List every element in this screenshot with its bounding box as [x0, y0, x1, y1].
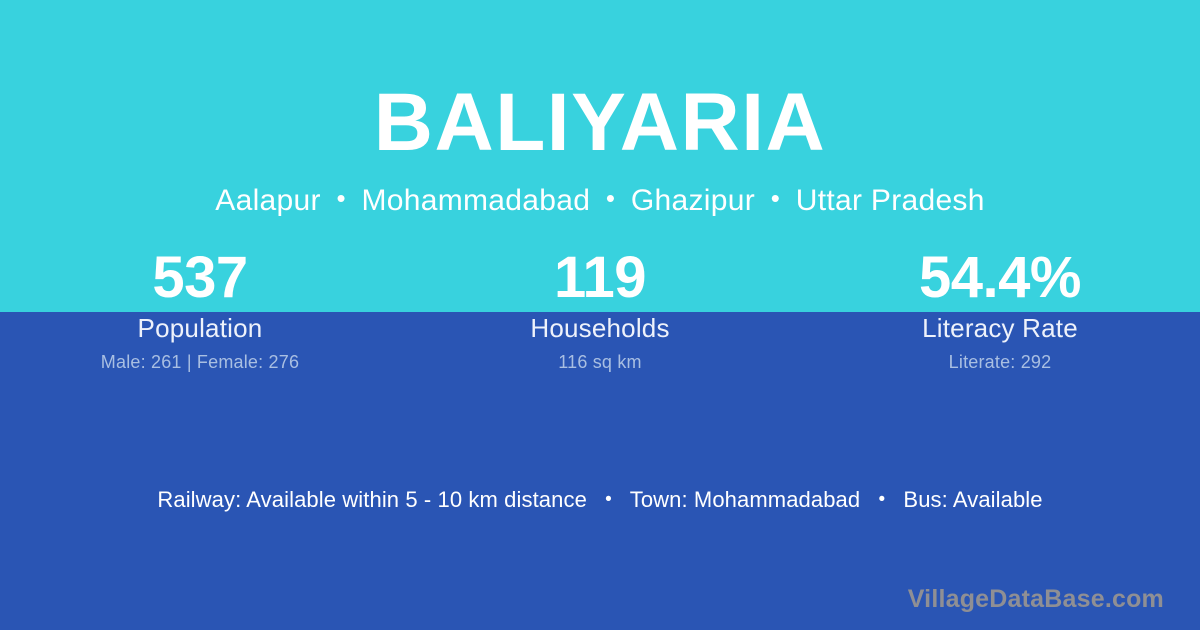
breadcrumb-separator-icon: • — [599, 183, 622, 213]
breadcrumb: Aalapur • Mohammadabad • Ghazipur • Utta… — [0, 184, 1200, 217]
stat-sub-population: Male: 261 | Female: 276 — [0, 351, 400, 373]
site-watermark: VillageDataBase.com — [908, 584, 1164, 614]
stats-row: 537 Population Male: 261 | Female: 276 1… — [0, 246, 1200, 373]
page-title: BALIYARIA — [0, 82, 1200, 164]
stat-value-literacy-rate: 54.4% — [800, 246, 1200, 310]
facilities-line: Railway: Available within 5 - 10 km dist… — [0, 485, 1200, 517]
stat-value-households: 119 — [400, 246, 800, 310]
breadcrumb-item-village[interactable]: Aalapur — [215, 184, 321, 217]
facility-separator-icon: • — [866, 489, 897, 510]
breadcrumb-item-state[interactable]: Uttar Pradesh — [796, 184, 985, 217]
breadcrumb-separator-icon: • — [764, 183, 787, 213]
stat-label-households: Households — [400, 313, 800, 343]
stat-sub-households: 116 sq km — [400, 351, 800, 373]
stat-households: 119 Households 116 sq km — [400, 246, 800, 373]
card-header: BALIYARIA Aalapur • Mohammadabad • Ghazi… — [0, 0, 1200, 217]
breadcrumb-separator-icon: • — [329, 183, 352, 213]
stat-literacy-rate: 54.4% Literacy Rate Literate: 292 — [800, 246, 1200, 373]
facility-bus: Bus: Available — [903, 487, 1042, 512]
stat-value-population: 537 — [0, 246, 400, 310]
breadcrumb-item-district[interactable]: Ghazipur — [631, 184, 755, 217]
facility-separator-icon: • — [593, 489, 624, 510]
breadcrumb-item-block[interactable]: Mohammadabad — [361, 184, 590, 217]
stat-label-population: Population — [0, 313, 400, 343]
facility-town: Town: Mohammadabad — [630, 487, 860, 512]
facility-railway: Railway: Available within 5 - 10 km dist… — [157, 487, 587, 512]
stat-sub-literacy-rate: Literate: 292 — [800, 351, 1200, 373]
stat-label-literacy-rate: Literacy Rate — [800, 313, 1200, 343]
village-info-card: BALIYARIA Aalapur • Mohammadabad • Ghazi… — [0, 0, 1200, 630]
stat-population: 537 Population Male: 261 | Female: 276 — [0, 246, 400, 373]
